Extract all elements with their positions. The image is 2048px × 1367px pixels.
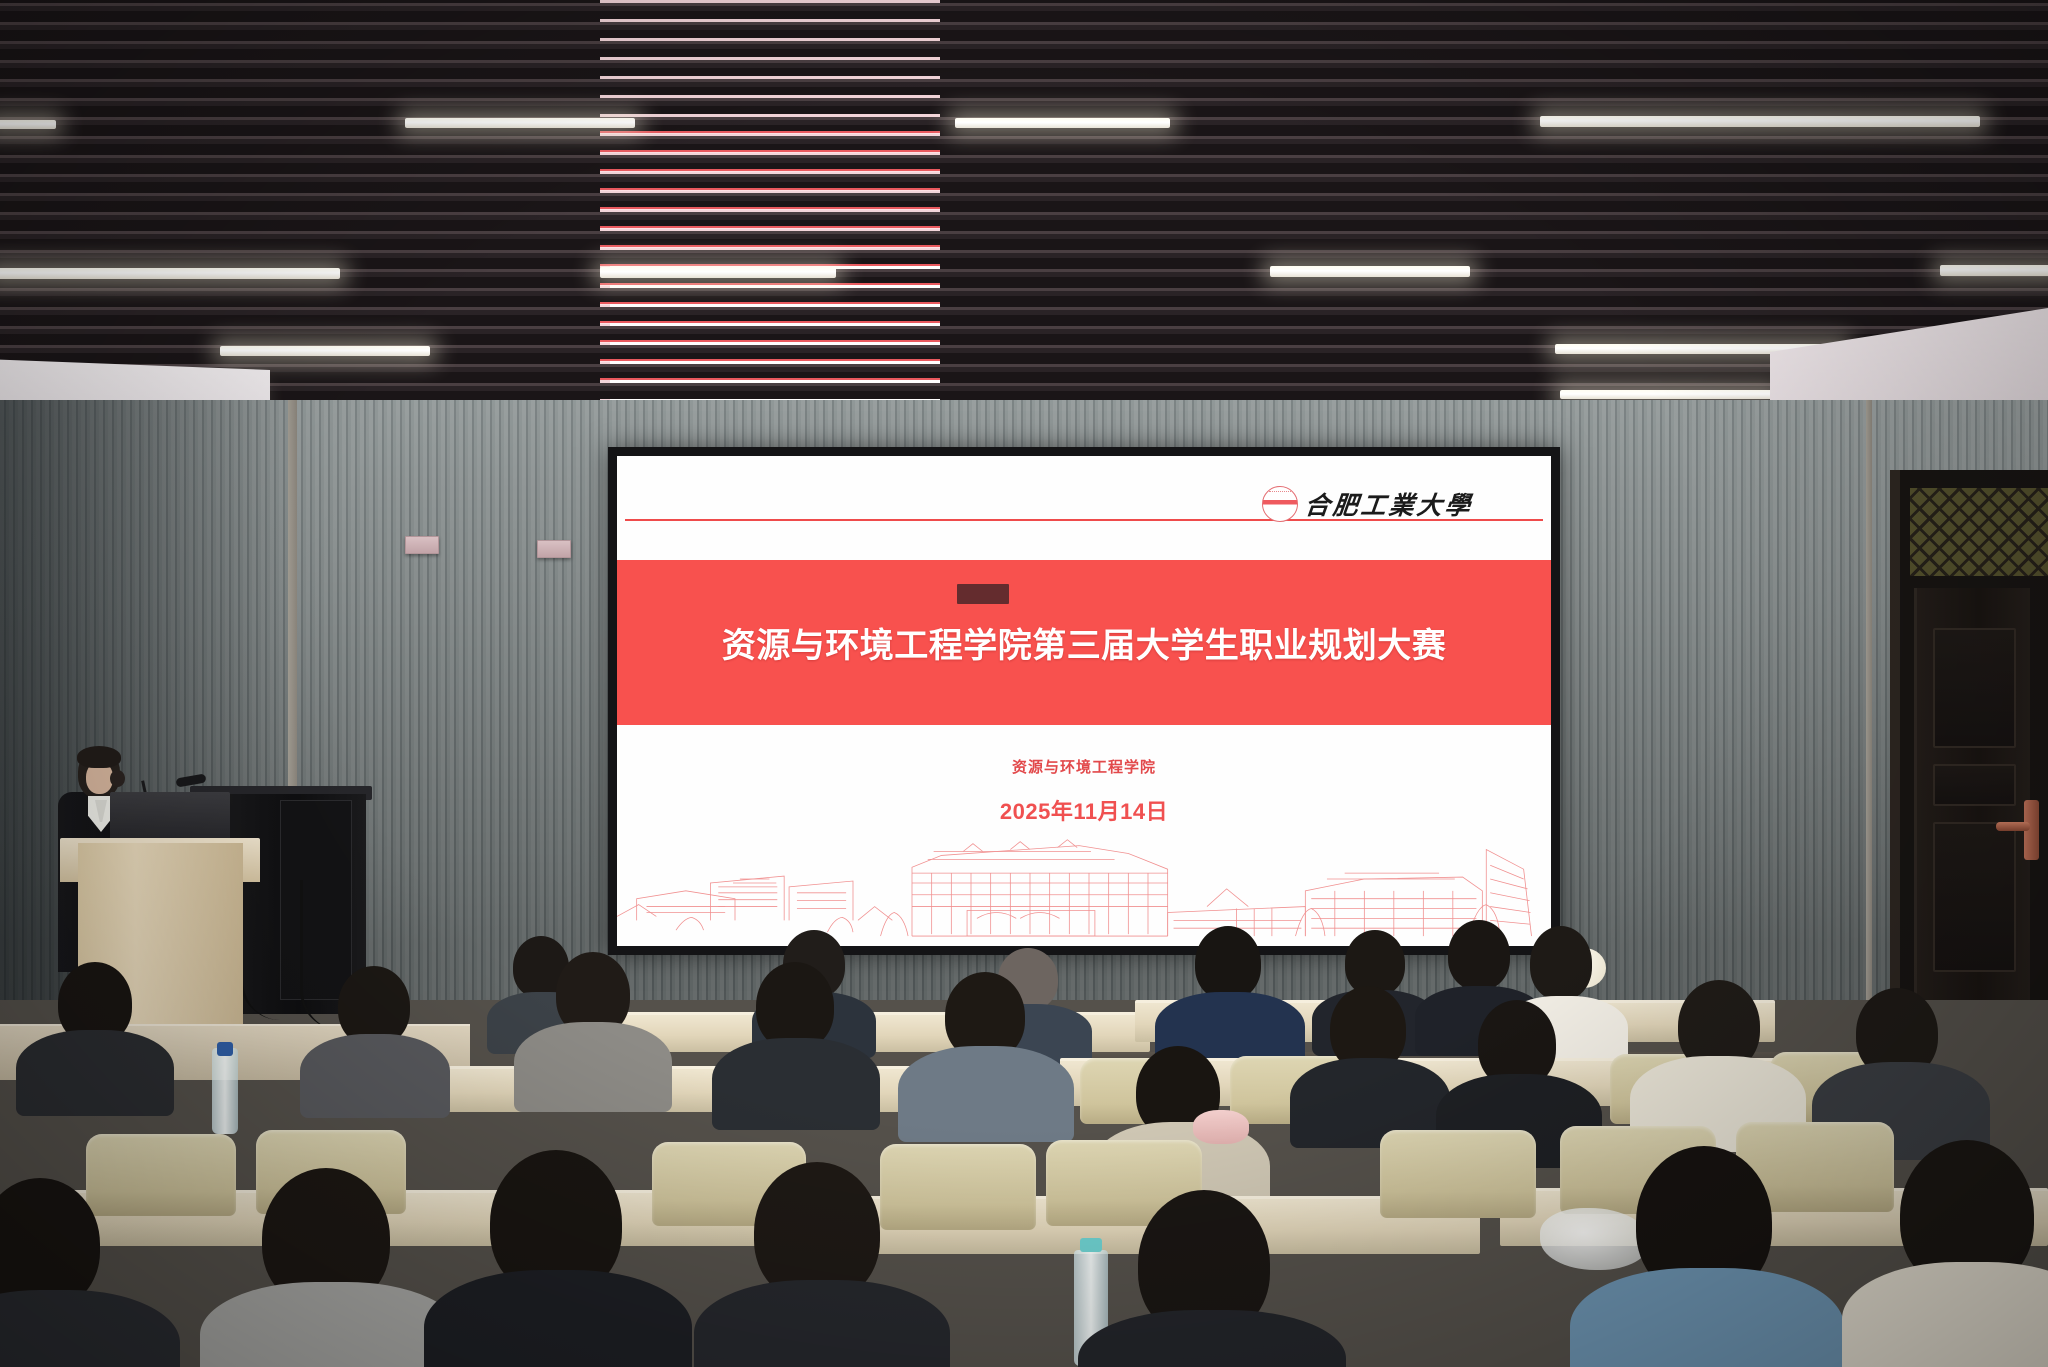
audience-shoulders [1570, 1268, 1844, 1367]
slide-subtitle-block: 资源与环境工程学院 2025年11月14日 [617, 756, 1551, 826]
university-logo-text: 合肥工業大學 [1303, 486, 1475, 522]
wall-sign-plate [537, 540, 571, 558]
presenter-hair-bun [110, 770, 125, 787]
cursor-artifact [957, 584, 1009, 604]
slide-title-band: 资源与环境工程学院第三届大学生职业规划大赛 [617, 560, 1551, 725]
auditorium-seat[interactable] [880, 1144, 1036, 1230]
door-panel [1933, 764, 2016, 806]
cable [240, 900, 280, 1020]
wall-sign-plate [405, 536, 439, 554]
ceiling-baffles [0, 0, 2048, 400]
audience-shoulders [898, 1046, 1074, 1142]
ceiling-light-tube [955, 118, 1170, 128]
presenter-hair [77, 746, 121, 768]
ceiling-light-tube [0, 120, 56, 129]
audience-shoulders [300, 1034, 450, 1118]
door-panel [1933, 628, 2016, 748]
door-panel [1933, 822, 2016, 972]
audience-head [1195, 926, 1261, 1000]
ceiling [0, 0, 2048, 400]
ceiling-light-tube [1560, 390, 1775, 399]
audience-head [1448, 920, 1510, 990]
lecture-hall-photo: 合肥工業大學 资源与环境工程学院第三届大学生职业规划大赛 资源与环境工程学院 2… [0, 0, 2048, 1367]
audience-shoulders [514, 1022, 672, 1112]
slide-title: 资源与环境工程学院第三届大学生职业规划大赛 [722, 618, 1447, 667]
campus-line-art-illustration [617, 822, 1541, 940]
audience-head [756, 962, 834, 1050]
door-leaf[interactable] [1914, 588, 2030, 1050]
ceiling-light-tube [1940, 265, 2048, 276]
ceiling-light-tube [220, 346, 430, 356]
ceiling-light-tube [1540, 116, 1980, 127]
entrance-door[interactable] [1890, 470, 2048, 1050]
audience-shoulders [712, 1038, 880, 1130]
ceiling-light-tube [1270, 266, 1470, 277]
ceiling-light-tube [600, 267, 836, 278]
bottle-cap [217, 1042, 233, 1056]
audience-shoulders [694, 1280, 950, 1367]
ceiling-light-tube [0, 268, 340, 279]
water-bottle[interactable] [212, 1048, 238, 1134]
audience-shoulders [200, 1282, 462, 1367]
lattice-pattern-icon [1910, 488, 2048, 576]
bottle-cap [1080, 1238, 1102, 1252]
audience-shoulders [16, 1030, 174, 1116]
wall-panel-seam [1866, 400, 1872, 1040]
door-transom-window [1910, 488, 2048, 576]
university-logo: 合肥工業大學 [1262, 486, 1473, 522]
audience-shoulders [424, 1270, 692, 1367]
university-seal-icon [1262, 486, 1298, 522]
slide-organizer: 资源与环境工程学院 [617, 756, 1551, 777]
auditorium-seat[interactable] [1380, 1130, 1536, 1218]
audience-head [1530, 926, 1592, 1000]
auditorium-seat[interactable] [86, 1134, 236, 1216]
door-handle-lever-icon[interactable] [1996, 822, 2030, 831]
projection-screen: 合肥工業大學 资源与环境工程学院第三届大学生职业规划大赛 资源与环境工程学院 2… [608, 447, 1560, 955]
ceiling-light-tube [405, 118, 635, 128]
presentation-slide: 合肥工業大學 资源与环境工程学院第三届大学生职业规划大赛 资源与环境工程学院 2… [617, 456, 1551, 946]
hair-bow-accessory [1193, 1110, 1249, 1144]
